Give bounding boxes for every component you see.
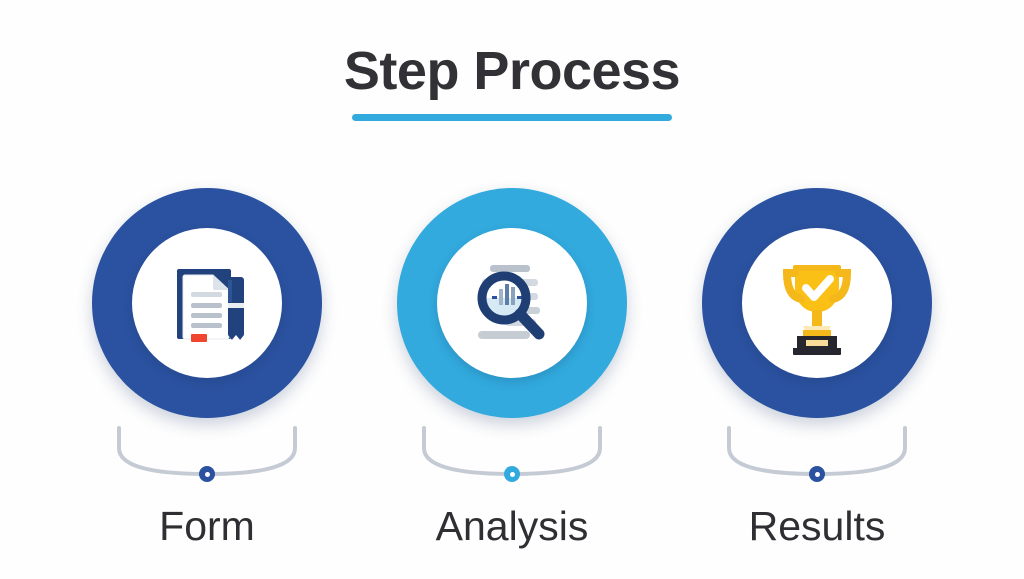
- step-icon-circle-analysis: [437, 228, 587, 378]
- step-analysis[interactable]: Analysis: [397, 188, 627, 550]
- step-ring-form[interactable]: [92, 188, 322, 418]
- trophy-check-icon: [765, 251, 869, 355]
- steps-row: Form: [0, 188, 1024, 550]
- step-ring-analysis[interactable]: [397, 188, 627, 418]
- connector-form: [107, 426, 307, 488]
- step-label-analysis: Analysis: [436, 502, 589, 550]
- connector-dot-form: [199, 466, 215, 482]
- page-title: Step Process: [0, 40, 1024, 102]
- connector-dot-analysis: [504, 466, 520, 482]
- title-block: Step Process: [0, 40, 1024, 121]
- step-icon-circle-results: [742, 228, 892, 378]
- step-label-results: Results: [749, 502, 886, 550]
- step-ring-results[interactable]: [702, 188, 932, 418]
- document-pen-icon: [155, 251, 259, 355]
- connector-dot-results: [809, 466, 825, 482]
- step-icon-circle-form: [132, 228, 282, 378]
- step-results[interactable]: Results: [702, 188, 932, 550]
- connector-results: [717, 426, 917, 488]
- title-underline: [352, 114, 672, 121]
- step-form[interactable]: Form: [92, 188, 322, 550]
- magnifier-chart-icon: [460, 251, 564, 355]
- diagram-canvas: Step Process: [0, 0, 1024, 579]
- connector-analysis: [412, 426, 612, 488]
- step-label-form: Form: [159, 502, 255, 550]
